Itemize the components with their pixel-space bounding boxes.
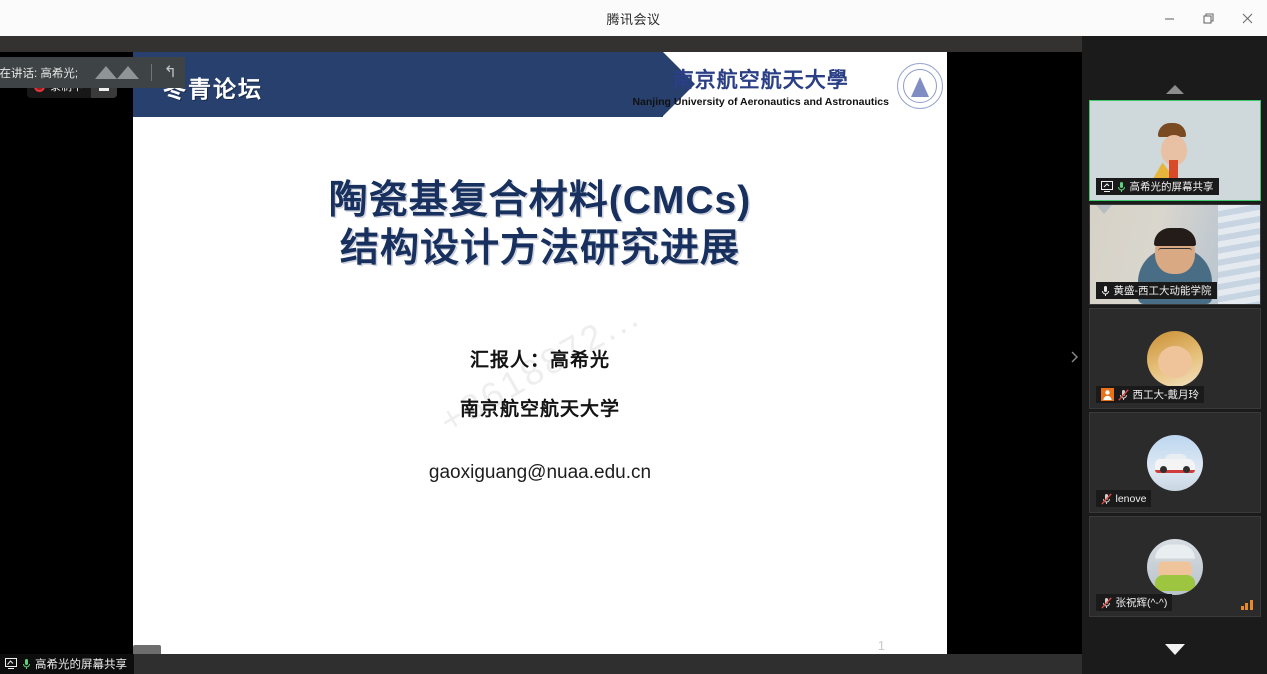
microphone-on-icon bbox=[22, 658, 31, 670]
video-tile-participant-3[interactable]: 西工大-戴月玲 bbox=[1089, 308, 1261, 409]
window-title: 腾讯会议 bbox=[606, 9, 660, 28]
tile-corner-marker bbox=[1096, 205, 1112, 214]
video-tile-list[interactable]: 高希光的屏幕共享 bbox=[1082, 100, 1267, 646]
person-badge-icon bbox=[1101, 388, 1114, 401]
maximize-restore-button[interactable] bbox=[1189, 0, 1228, 36]
tile-label: 高希光的屏幕共享 bbox=[1096, 178, 1219, 195]
avatar-car bbox=[1147, 435, 1203, 491]
kid-hat bbox=[1155, 545, 1195, 562]
slide-title-line1: 陶瓷基复合材料(CMCs) bbox=[133, 177, 947, 225]
microphone-on-icon bbox=[1117, 181, 1126, 193]
divider bbox=[151, 64, 152, 81]
minimize-button[interactable] bbox=[1150, 0, 1189, 36]
tile-label: lenove bbox=[1096, 490, 1152, 507]
car-wheel-left bbox=[1160, 466, 1167, 473]
slide-header: 冬青论坛 南京航空航天大學 Nanjing University of Aero… bbox=[133, 52, 947, 117]
participants-sidebar: 高希光的屏幕共享 bbox=[1082, 36, 1267, 674]
microphone-on-icon bbox=[1101, 285, 1110, 297]
university-logo: 南京航空航天大學 Nanjing University of Aeronauti… bbox=[675, 58, 943, 114]
microphone-muted-icon bbox=[1101, 493, 1112, 505]
slide-title: 陶瓷基复合材料(CMCs) 结构设计方法研究进展 bbox=[133, 177, 947, 272]
university-text: 南京航空航天大學 Nanjing University of Aeronauti… bbox=[632, 64, 889, 108]
tile-label: 西工大-戴月玲 bbox=[1096, 386, 1205, 403]
screen-share-icon bbox=[5, 658, 18, 670]
person-glasses bbox=[1158, 248, 1192, 256]
video-tile-participant-4[interactable]: lenove bbox=[1089, 412, 1261, 513]
university-seal-icon bbox=[897, 63, 943, 109]
tile-label: 张祝辉(^-^) bbox=[1096, 594, 1173, 611]
tile-name-text: 高希光的屏幕共享 bbox=[1130, 179, 1214, 194]
microphone-muted-icon bbox=[1118, 389, 1129, 401]
scroll-down-chevron-icon[interactable] bbox=[1082, 644, 1267, 666]
car-body bbox=[1155, 459, 1195, 473]
university-name-cn: 南京航空航天大學 bbox=[632, 64, 889, 94]
speaking-label: 正在讲话: 高希光; bbox=[0, 65, 89, 81]
person-hair bbox=[1154, 228, 1196, 246]
video-tile-screen-share[interactable]: 高希光的屏幕共享 bbox=[1089, 100, 1261, 201]
toolbar-strip bbox=[0, 36, 1082, 52]
share-status-badge: 高希光的屏幕共享 bbox=[0, 654, 134, 674]
share-status-text: 高希光的屏幕共享 bbox=[35, 656, 127, 672]
avatar-kid bbox=[1147, 539, 1203, 595]
baby-face bbox=[1158, 346, 1192, 378]
tile-label: 黄盛-西工大动能学院 bbox=[1096, 282, 1217, 299]
presenter-line: 汇报人：高希光 bbox=[133, 345, 947, 372]
screen-share-icon bbox=[1101, 181, 1113, 192]
slide-title-line2: 结构设计方法研究进展 bbox=[133, 225, 947, 273]
close-button[interactable] bbox=[1228, 0, 1267, 36]
collapse-sidebar-chevron-icon[interactable] bbox=[1066, 346, 1082, 368]
tile-name-text: 张祝辉(^-^) bbox=[1116, 595, 1168, 610]
microphone-muted-icon bbox=[1101, 597, 1112, 609]
title-bar: 腾讯会议 bbox=[0, 0, 1267, 36]
curtain-background bbox=[1218, 205, 1260, 305]
tile-name-text: 黄盛-西工大动能学院 bbox=[1114, 283, 1212, 298]
slide-body: +8618872... 陶瓷基复合材料(CMCs) 结构设计方法研究进展 汇报人… bbox=[133, 117, 947, 663]
avatar-baby bbox=[1147, 331, 1203, 387]
email-line: gaoxiguang@nuaa.edu.cn bbox=[133, 462, 947, 484]
video-tile-participant-5[interactable]: 张祝辉(^-^) bbox=[1089, 516, 1261, 617]
affiliation-line: 南京航空航天大学 bbox=[133, 394, 947, 421]
return-arrow-icon[interactable]: ↰ bbox=[164, 65, 179, 81]
slide-page-number: 1 bbox=[878, 638, 885, 653]
network-signal-icon bbox=[1241, 600, 1253, 610]
university-name-en: Nanjing University of Aeronautics and As… bbox=[632, 96, 889, 108]
share-toolbar-handle[interactable] bbox=[133, 645, 161, 654]
speaking-indicator-bar: 正在讲话: 高希光; ↰ bbox=[0, 57, 185, 88]
tencent-meeting-window: 腾讯会议 录制中 bbox=[0, 0, 1267, 674]
kid-shirt bbox=[1155, 575, 1195, 591]
tile-name-text: lenove bbox=[1116, 493, 1147, 505]
video-tile-participant-2[interactable]: 黄盛-西工大动能学院 bbox=[1089, 204, 1261, 305]
bottom-status-bar bbox=[0, 654, 1082, 674]
car-wheel-right bbox=[1183, 466, 1190, 473]
window-controls bbox=[1150, 0, 1267, 36]
shared-slide: 冬青论坛 南京航空航天大學 Nanjing University of Aero… bbox=[133, 52, 947, 663]
tile-name-text: 西工大-戴月玲 bbox=[1133, 387, 1200, 402]
audio-wave-icon bbox=[95, 66, 139, 79]
scroll-up-chevron-icon[interactable] bbox=[1082, 78, 1267, 100]
